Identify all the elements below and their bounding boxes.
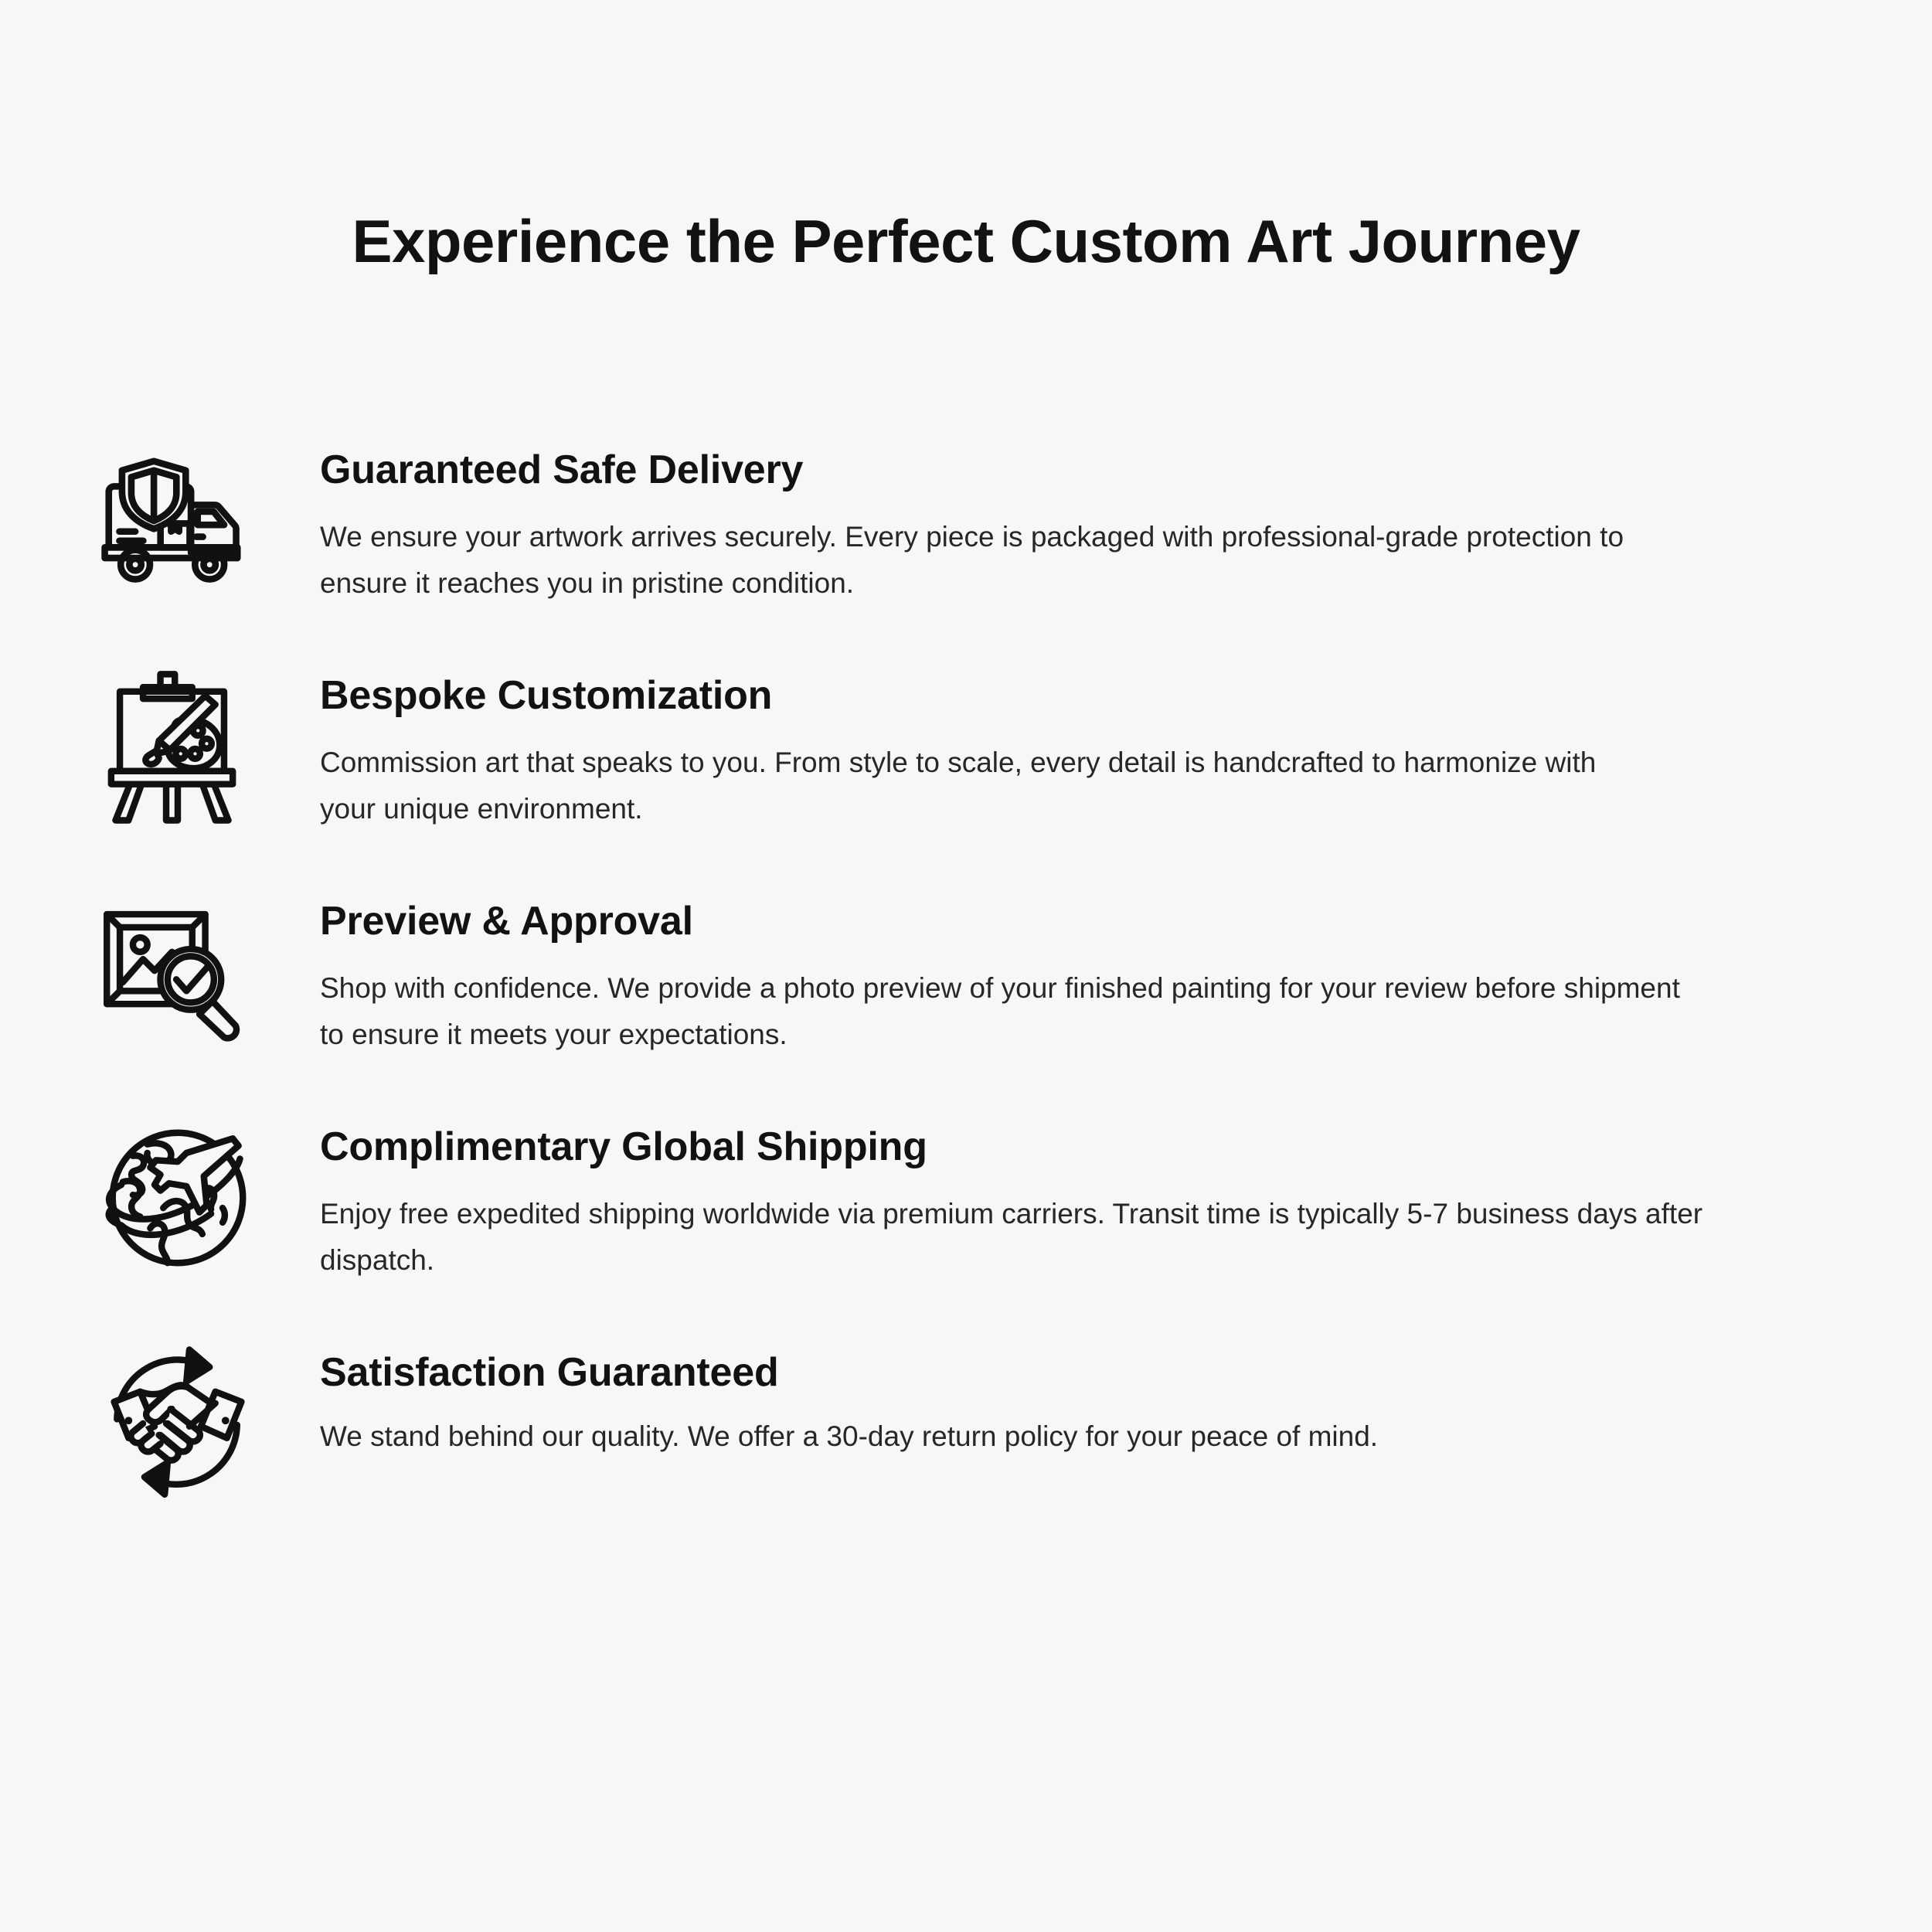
feature-highlights-page: Experience the Perfect Custom Art Journe… [0,0,1932,1932]
page-title: Experience the Perfect Custom Art Journe… [0,207,1932,277]
feature-heading: Guaranteed Safe Delivery [320,447,1862,494]
feature-description: We ensure your artwork arrives securely.… [320,514,1703,607]
feature-description: Commission art that speaks to you. From … [320,740,1634,832]
feature-list: Guaranteed Safe Delivery We ensure your … [0,430,1932,1558]
feature-item-satisfaction-guaranteed: Satisfaction Guaranteed We stand behind … [0,1332,1932,1510]
feature-heading: Complimentary Global Shipping [320,1124,1862,1171]
framed-picture-magnifier-check-icon [91,886,264,1059]
feature-item-safe-delivery: Guaranteed Safe Delivery We ensure your … [0,430,1932,607]
feature-text-block: Complimentary Global Shipping Enjoy free… [264,1107,1862,1284]
feature-item-global-shipping: Complimentary Global Shipping Enjoy free… [0,1107,1932,1284]
handshake-return-arrows-icon [91,1337,264,1510]
feature-item-bespoke-customization: Bespoke Customization Commission art tha… [0,655,1932,833]
feature-heading: Bespoke Customization [320,672,1862,719]
feature-description: Enjoy free expedited shipping worldwide … [320,1191,1719,1284]
shield-truck-icon [91,434,264,607]
feature-text-block: Preview & Approval Shop with confidence.… [264,881,1862,1058]
feature-text-block: Bespoke Customization Commission art tha… [264,655,1862,832]
feature-heading: Preview & Approval [320,898,1862,945]
feature-text-block: Satisfaction Guaranteed We stand behind … [264,1332,1862,1460]
feature-text-block: Guaranteed Safe Delivery We ensure your … [264,430,1862,607]
easel-palette-brush-icon [91,660,264,833]
feature-heading: Satisfaction Guaranteed [320,1349,1862,1396]
feature-description: Shop with confidence. We provide a photo… [320,965,1703,1058]
feature-item-preview-approval: Preview & Approval Shop with confidence.… [0,881,1932,1059]
feature-description: We stand behind our quality. We offer a … [320,1413,1811,1460]
globe-airplane-icon [91,1111,264,1284]
